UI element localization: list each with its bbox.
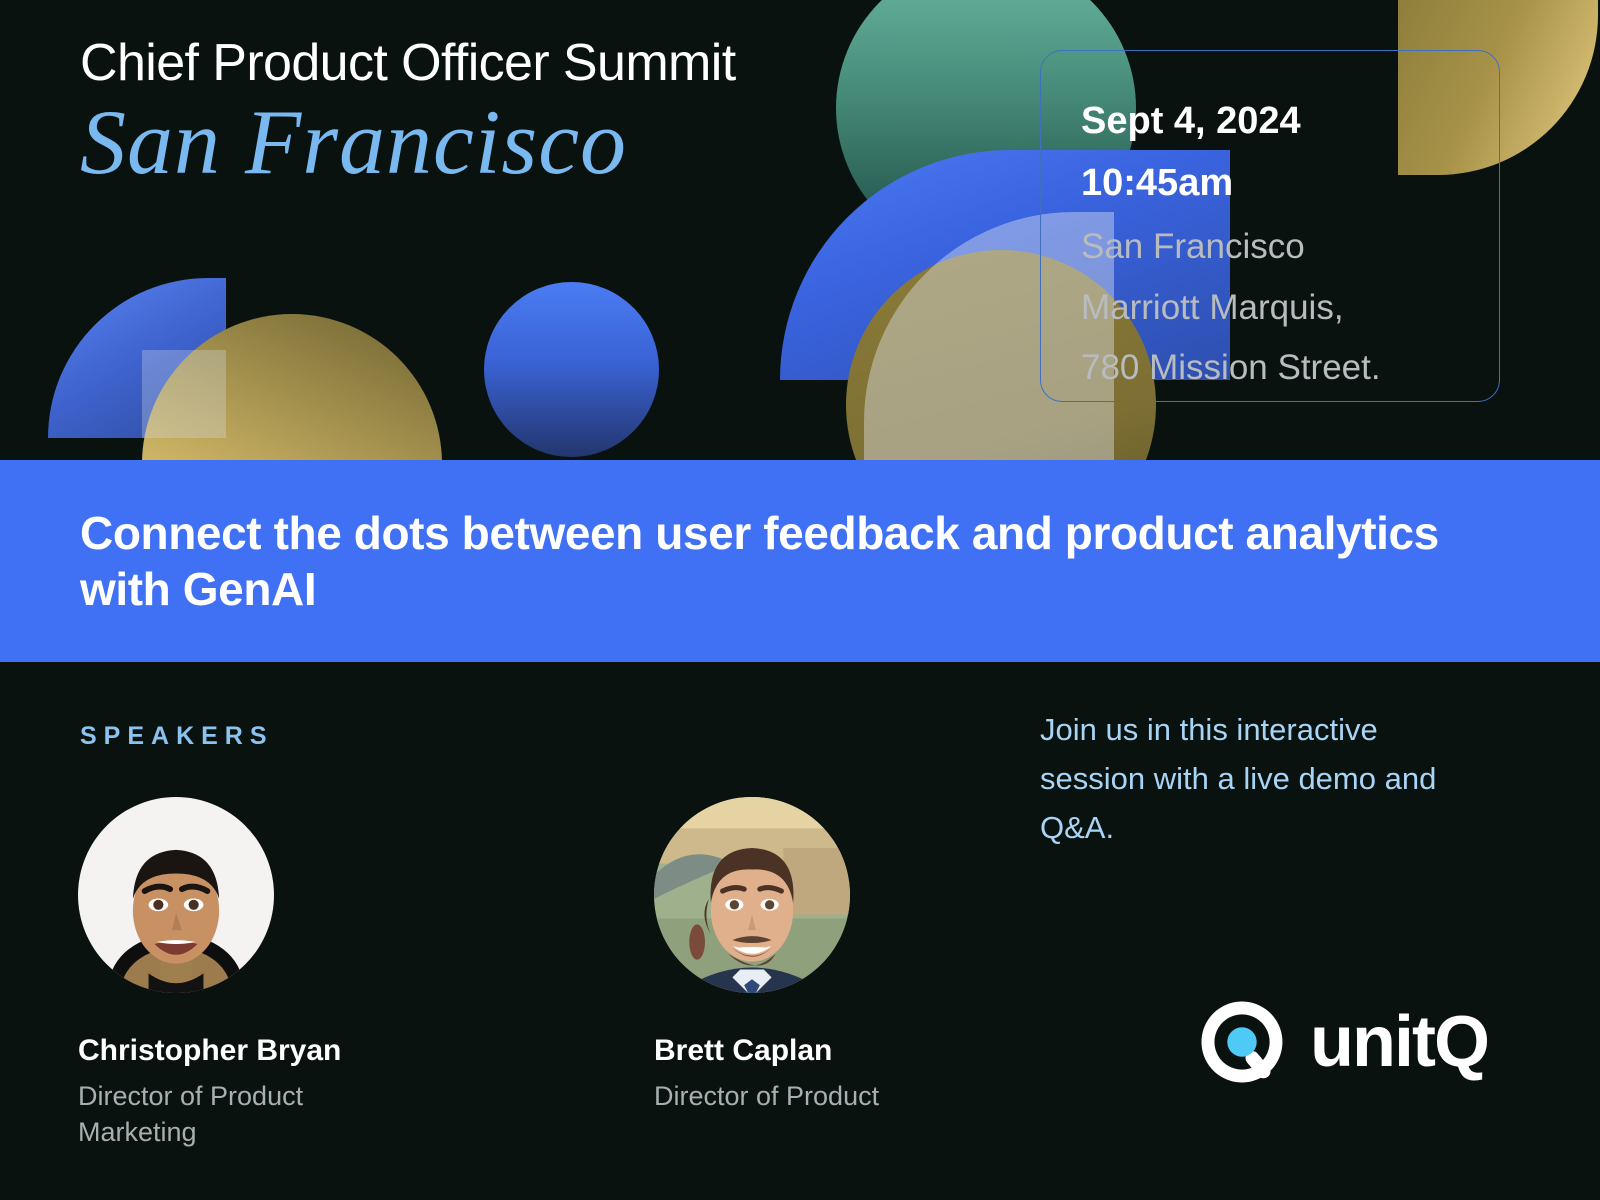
session-headline: Connect the dots between user feedback a… bbox=[0, 505, 1600, 617]
speaker-title: Director of Product bbox=[654, 1079, 984, 1115]
avatar bbox=[654, 797, 850, 993]
speaker-name: Christopher Bryan bbox=[78, 1033, 408, 1069]
event-series-title: Chief Product Officer Summit bbox=[80, 36, 736, 91]
event-details-panel: Sept 4, 2024 10:45am San Francisco Marri… bbox=[1040, 50, 1500, 402]
decorative-blue-circle bbox=[484, 282, 659, 457]
speaker-card: Brett Caplan Director of Product bbox=[654, 797, 984, 1150]
decorative-translucent-overlay-left bbox=[142, 350, 226, 438]
speakers-heading: SPEAKERS bbox=[80, 722, 274, 751]
session-headline-banner: Connect the dots between user feedback a… bbox=[0, 460, 1600, 662]
event-date: Sept 4, 2024 bbox=[1081, 91, 1499, 153]
event-city-title: San Francisco bbox=[80, 93, 736, 192]
venue-line-2: Marriott Marquis, bbox=[1081, 281, 1499, 336]
avatar bbox=[78, 797, 274, 993]
session-description: Join us in this interactive session with… bbox=[1040, 706, 1480, 853]
speakers-list: Christopher Bryan Director of Product Ma… bbox=[78, 797, 984, 1150]
unitq-logo-icon bbox=[1196, 996, 1288, 1088]
speaker-name: Brett Caplan bbox=[654, 1033, 984, 1069]
venue-line-1: San Francisco bbox=[1081, 220, 1499, 275]
content-section: SPEAKERS bbox=[0, 662, 1600, 1200]
unitq-logo: unitQ bbox=[1196, 996, 1488, 1088]
speaker-title: Director of Product Marketing bbox=[78, 1079, 408, 1150]
hero-section: Chief Product Officer Summit San Francis… bbox=[0, 0, 1600, 460]
event-title-block: Chief Product Officer Summit San Francis… bbox=[80, 36, 736, 192]
unitq-wordmark: unitQ bbox=[1310, 1006, 1488, 1078]
venue-line-3: 780 Mission Street. bbox=[1081, 341, 1499, 396]
speaker-card: Christopher Bryan Director of Product Ma… bbox=[78, 797, 408, 1150]
event-time: 10:45am bbox=[1081, 153, 1499, 215]
